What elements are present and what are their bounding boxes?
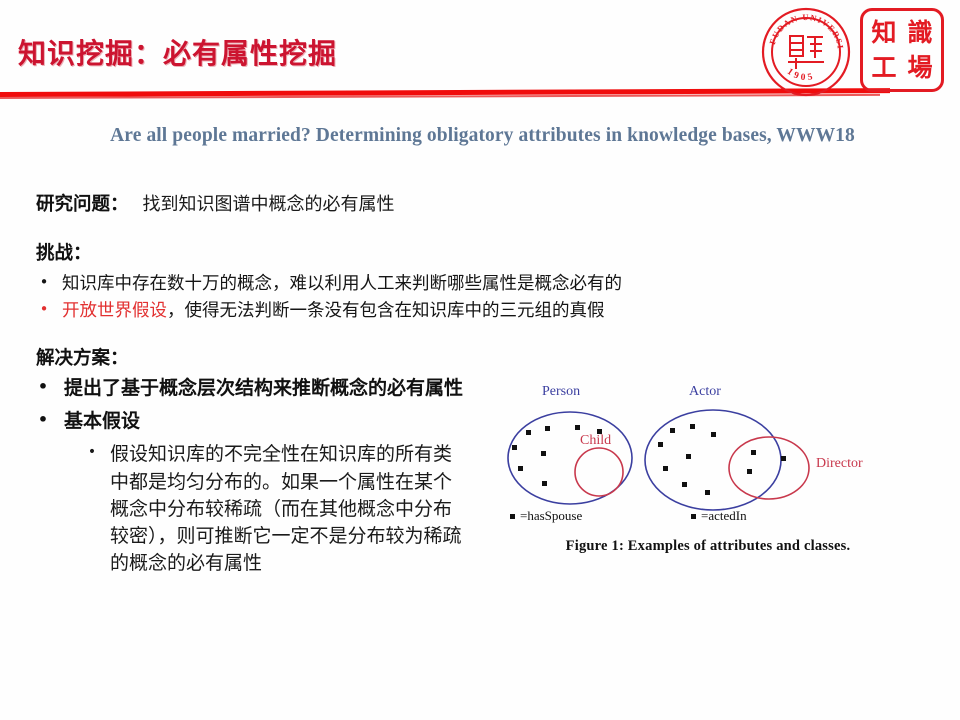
kw-char-4: 場 — [907, 55, 932, 80]
bullet-marker: • — [36, 298, 52, 321]
actor-class-ellipse — [645, 410, 781, 510]
director-class-ellipse — [729, 437, 809, 499]
person-class-label: Person — [542, 384, 580, 400]
legend-square-icon — [691, 514, 696, 519]
legend-square-icon — [510, 514, 515, 519]
solution-sub-bullet-text: 假设知识库的不完全性在知识库的所有类中都是均匀分布的。如果一个属性在某个概念中分… — [110, 441, 465, 577]
child-class-label: Child — [580, 433, 611, 449]
child-class-circle — [575, 448, 623, 496]
figure-1-caption: Figure 1: Examples of attributes and cla… — [498, 538, 918, 555]
page-title: 知识挖掘：必有属性挖掘 — [18, 32, 337, 72]
challenge-bullet-1-text: 知识库中存在数十万的概念，难以利用人工来判断哪些属性是概念必有的 — [62, 271, 876, 297]
bullet-marker: • — [36, 271, 52, 294]
actedin-legend: =actedIn — [691, 508, 747, 524]
solution-bullet-2-text: 基本假设 — [64, 409, 494, 435]
paper-title: Are all people married? Determining obli… — [60, 122, 905, 150]
solution-heading: 解决方案： — [36, 348, 876, 370]
challenge-bullet-2-highlight: 开放世界假设 — [62, 301, 167, 321]
director-class-label: Director — [816, 456, 863, 472]
challenge-heading: 挑战： — [36, 243, 876, 265]
research-question-block: 研究问题： 找到知识图谱中概念的必有属性 — [36, 190, 876, 216]
hasspouse-legend-text: =hasSpouse — [520, 508, 582, 523]
bullet-marker: • — [36, 376, 50, 398]
slide-header: 知识挖掘：必有属性挖掘 FUDAN UNIVERSITY 1905 — [0, 0, 960, 105]
actedin-legend-text: =actedIn — [701, 508, 747, 523]
fudan-university-seal-icon: FUDAN UNIVERSITY 1905 — [760, 6, 852, 98]
challenge-bullet-2: • 开放世界假设，使得无法判断一条没有包含在知识库中的三元组的真假 — [36, 298, 876, 324]
bullet-marker: • — [86, 441, 98, 463]
kw-char-2: 識 — [907, 20, 932, 45]
research-question-heading: 研究问题： — [36, 194, 129, 216]
kw-char-3: 工 — [871, 55, 896, 80]
kw-char-1: 知 — [871, 20, 896, 45]
challenge-bullet-2-text: 开放世界假设，使得无法判断一条没有包含在知识库中的三元组的真假 — [62, 298, 876, 324]
solution-bullet-1-text: 提出了基于概念层次结构来推断概念的必有属性 — [64, 376, 494, 402]
actor-actedin-dots — [658, 424, 716, 495]
challenge-bullet-1: • 知识库中存在数十万的概念，难以利用人工来判断哪些属性是概念必有的 — [36, 271, 876, 297]
challenge-bullet-2-rest: ，使得无法判断一条没有包含在知识库中的三元组的真假 — [167, 301, 605, 321]
hasspouse-legend: =hasSpouse — [510, 508, 582, 524]
slide-root: 知识挖掘：必有属性挖掘 FUDAN UNIVERSITY 1905 — [0, 0, 960, 720]
actor-class-label: Actor — [689, 384, 721, 400]
knowledge-works-logo: 知 識 工 場 — [860, 8, 944, 92]
research-question-text: 找到知识图谱中概念的必有属性 — [143, 190, 395, 216]
bullet-marker: • — [36, 409, 50, 431]
